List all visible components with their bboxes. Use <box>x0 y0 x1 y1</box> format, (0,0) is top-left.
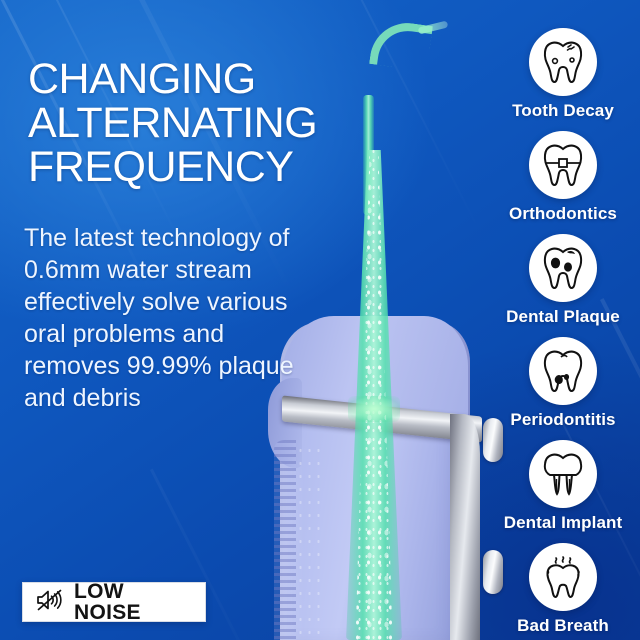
tooth-periodontitis-icon <box>529 337 597 405</box>
feature-list: Tooth Decay Orthodontics <box>486 0 640 640</box>
low-noise-label: LOW NOISE <box>74 581 193 623</box>
low-noise-badge: LOW NOISE <box>22 582 206 622</box>
nozzle-tip <box>418 20 449 34</box>
tooth-implant-icon <box>529 440 597 508</box>
tooth-braces-icon <box>529 131 597 199</box>
body-copy: The latest technology of 0.6mm water str… <box>24 222 324 414</box>
feature-item-dental-plaque[interactable]: Dental Plaque <box>486 234 640 327</box>
feature-label: Orthodontics <box>486 204 640 224</box>
feature-label: Dental Implant <box>486 513 640 533</box>
feature-item-bad-breath[interactable]: Bad Breath <box>486 543 640 636</box>
nozzle-curve <box>369 18 433 72</box>
headline-line-1: CHANGING <box>28 57 378 101</box>
page-title: CHANGING ALTERNATING FREQUENCY <box>28 57 378 189</box>
device-grip-texture <box>274 440 296 640</box>
promo-banner: CHANGING ALTERNATING FREQUENCY The lates… <box>0 0 640 640</box>
feature-item-dental-implant[interactable]: Dental Implant <box>486 440 640 533</box>
headline-line-3: FREQUENCY <box>28 145 378 189</box>
tooth-decay-icon <box>529 28 597 96</box>
feature-label: Periodontitis <box>486 410 640 430</box>
tooth-odor-icon <box>529 543 597 611</box>
feature-label: Bad Breath <box>486 616 640 636</box>
tooth-plaque-icon <box>529 234 597 302</box>
muted-speaker-icon <box>35 588 65 617</box>
feature-item-orthodontics[interactable]: Orthodontics <box>486 131 640 224</box>
feature-label: Tooth Decay <box>486 101 640 121</box>
feature-label: Dental Plaque <box>486 307 640 327</box>
device-dot-texture <box>296 444 326 640</box>
headline-line-2: ALTERNATING <box>28 101 378 145</box>
device-metal-rail <box>450 414 480 640</box>
feature-item-tooth-decay[interactable]: Tooth Decay <box>486 28 640 121</box>
feature-item-periodontitis[interactable]: Periodontitis <box>486 337 640 430</box>
